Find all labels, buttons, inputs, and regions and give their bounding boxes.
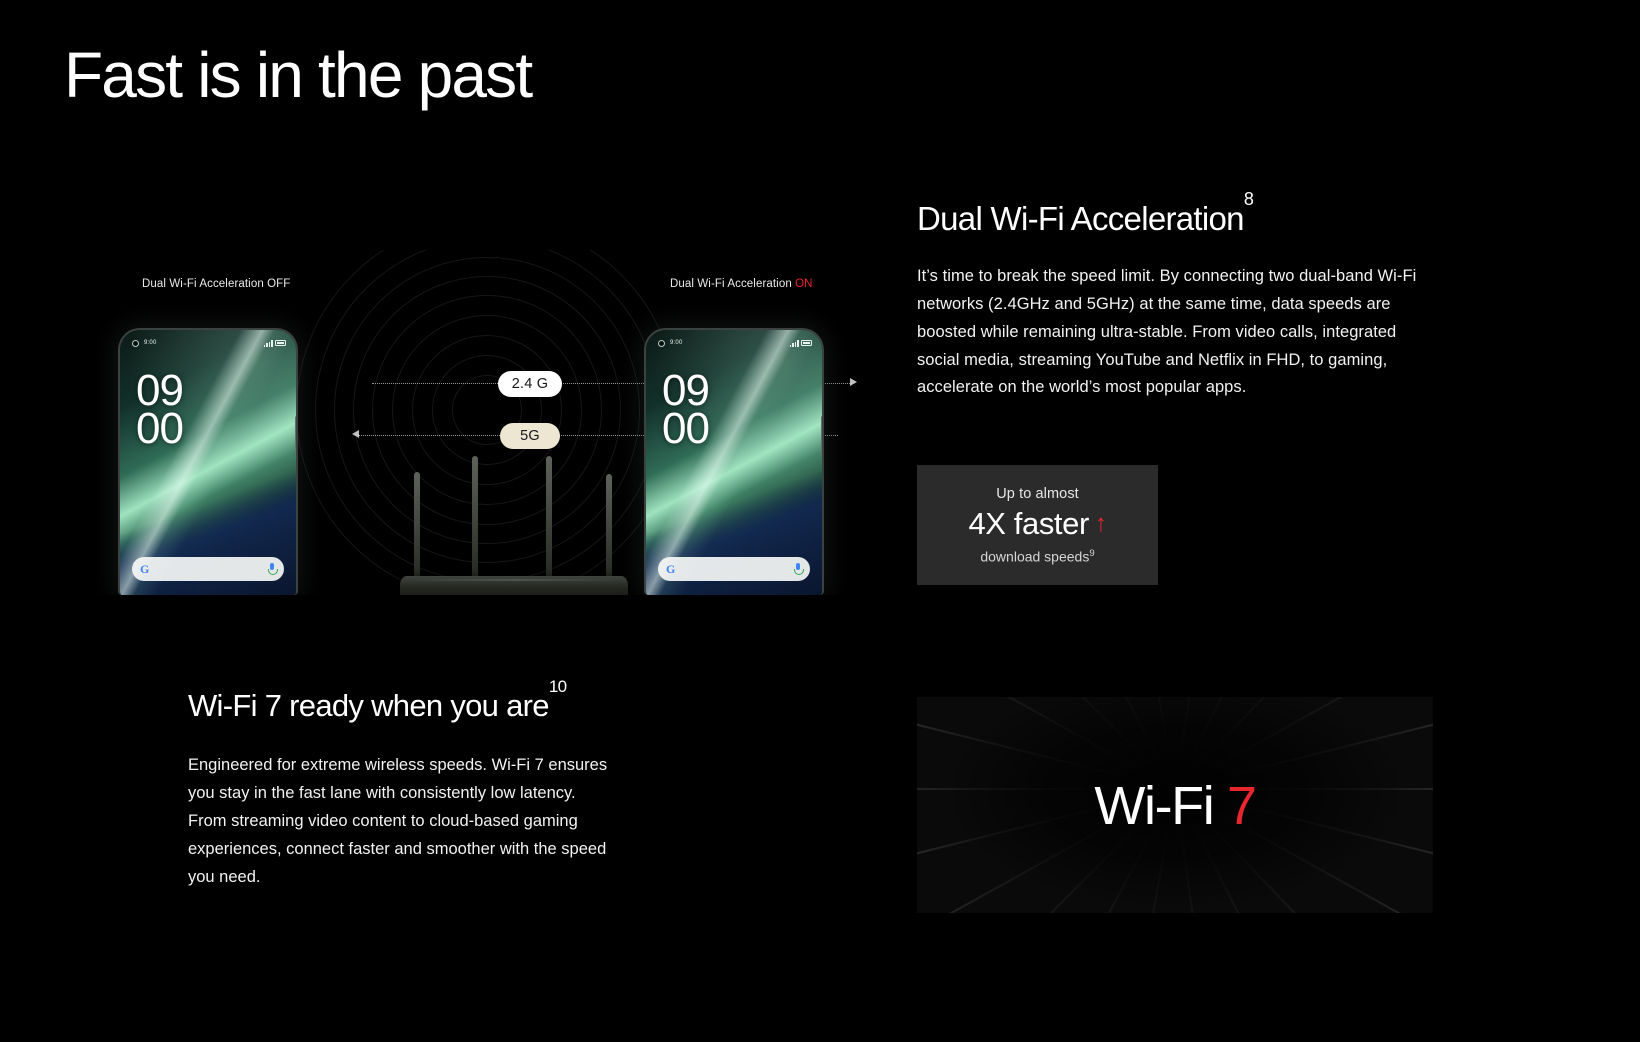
dual-wifi-product-illustration: Dual Wi-Fi Acceleration OFF Dual Wi-Fi A…	[60, 250, 870, 595]
phone-status-bar: 9:00	[646, 337, 822, 349]
router-body	[400, 576, 628, 595]
lockscreen-clock: 09 00	[662, 372, 709, 448]
page-root: Fast is in the past Dual Wi-Fi Accelerat…	[0, 0, 1640, 1042]
phone-label-acceleration-on: Dual Wi-Fi Acceleration ON	[670, 278, 813, 290]
status-time: 9:00	[670, 340, 682, 346]
stat-card-bottom-label: download speeds9	[980, 548, 1094, 565]
band-badge-5g: 5G	[500, 423, 560, 449]
lockscreen-clock: 09 00	[136, 372, 183, 448]
phone-label-on-state: ON	[795, 278, 812, 290]
battery-icon	[801, 340, 812, 346]
signal-bars-icon	[264, 340, 273, 347]
page-title: Fast is in the past	[64, 40, 531, 110]
battery-icon	[275, 340, 286, 346]
microphone-icon[interactable]	[793, 563, 802, 575]
wifi-ripple-rings	[292, 260, 682, 560]
phone-left: 9:00 09 00 G	[118, 328, 298, 595]
wifi7-heading: Wi-Fi 7 ready when you are10	[188, 688, 658, 724]
wifi7-footnote-marker: 10	[549, 677, 567, 696]
wifi7-heading-text: Wi-Fi 7 ready when you are	[188, 688, 549, 723]
phone-label-on-prefix: Dual Wi-Fi Acceleration	[670, 278, 795, 290]
wifi-router-illustration	[400, 572, 628, 595]
phone-right: 9:00 09 00 G	[644, 328, 824, 595]
power-button	[821, 416, 824, 456]
google-logo-icon: G	[666, 562, 675, 577]
dual-wifi-heading: Dual Wi-Fi Acceleration8	[917, 200, 1417, 239]
power-button	[295, 416, 298, 456]
status-indicators	[264, 340, 286, 347]
google-search-widget[interactable]: G	[132, 557, 284, 581]
stat-card-footnote-marker: 9	[1089, 548, 1094, 559]
dual-wifi-heading-text: Dual Wi-Fi Acceleration	[917, 200, 1244, 237]
arrow-left-icon	[352, 430, 359, 438]
router-antenna	[472, 456, 478, 584]
arrow-up-icon: ↑	[1095, 512, 1107, 536]
microphone-icon[interactable]	[267, 563, 276, 575]
download-speed-stat-card: Up to almost 4X faster ↑ download speeds…	[917, 465, 1158, 585]
arrow-right-icon	[850, 378, 857, 386]
stat-card-value-row: 4X faster ↑	[968, 506, 1106, 542]
router-antenna	[414, 472, 420, 584]
dual-wifi-paragraph: It’s time to break the speed limit. By c…	[917, 263, 1417, 402]
wifi7-banner-title: Wi-Fi 7	[917, 775, 1433, 837]
status-indicators	[790, 340, 812, 347]
stat-card-value: 4X faster	[968, 506, 1088, 542]
google-search-widget[interactable]: G	[658, 557, 810, 581]
router-antenna	[546, 456, 552, 584]
wifi7-banner-label: Wi-Fi	[1094, 776, 1227, 836]
status-time: 9:00	[144, 340, 156, 346]
signal-bars-icon	[790, 340, 799, 347]
wifi7-paragraph: Engineered for extreme wireless speeds. …	[188, 752, 618, 891]
google-logo-icon: G	[140, 562, 149, 577]
router-antenna	[606, 474, 612, 584]
phone-label-acceleration-off: Dual Wi-Fi Acceleration OFF	[142, 278, 290, 290]
clock-minutes: 00	[662, 410, 709, 448]
wifi7-text-block: Wi-Fi 7 ready when you are10 Engineered …	[188, 688, 658, 891]
stat-card-top-label: Up to almost	[996, 486, 1079, 502]
band-badge-24g: 2.4 G	[498, 371, 562, 397]
clock-minutes: 00	[136, 410, 183, 448]
wifi7-banner-image: Wi-Fi 7	[917, 697, 1433, 913]
dual-wifi-footnote-marker: 8	[1244, 189, 1253, 209]
stat-card-bottom-text: download speeds	[980, 548, 1089, 564]
phone-status-bar: 9:00	[120, 337, 296, 349]
dual-wifi-text-block: Dual Wi-Fi Acceleration8 It’s time to br…	[917, 200, 1417, 402]
wifi7-banner-accent: 7	[1227, 776, 1256, 836]
